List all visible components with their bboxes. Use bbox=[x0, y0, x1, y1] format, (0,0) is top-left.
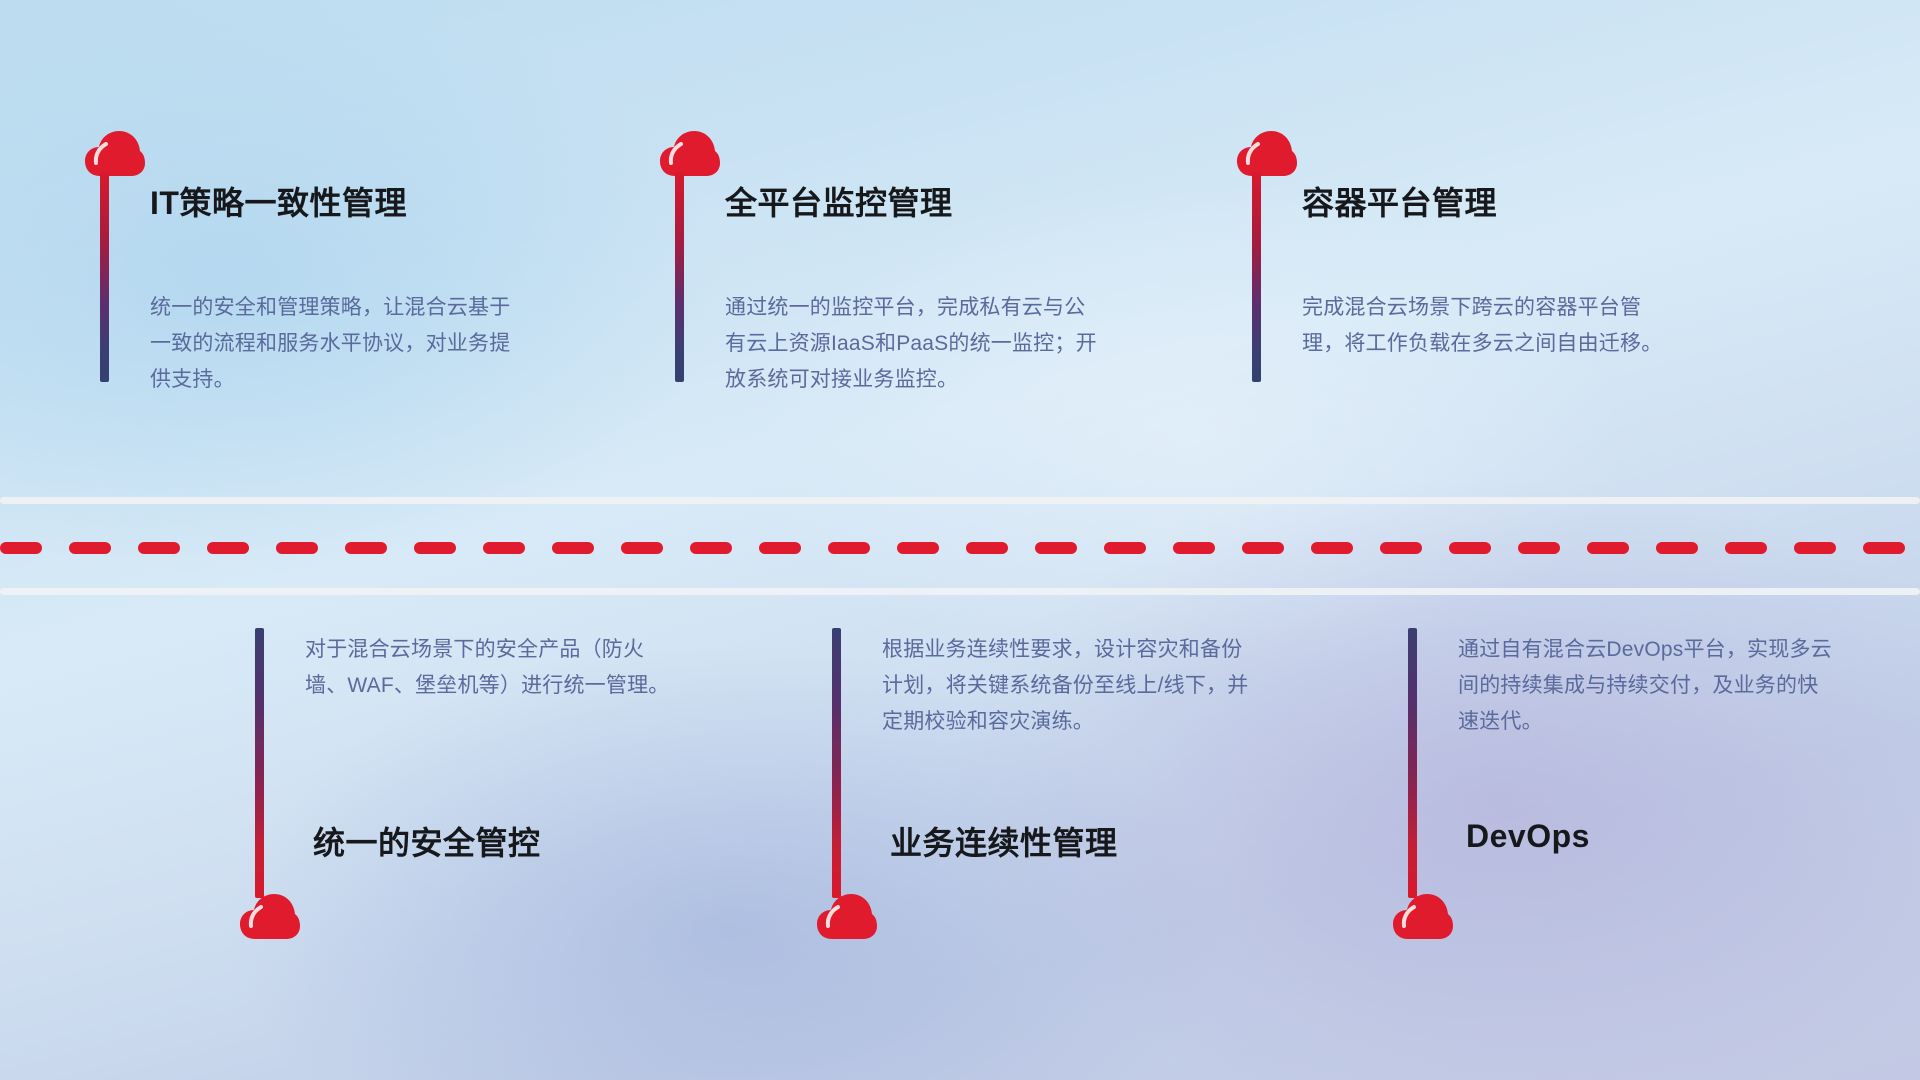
divider-dash bbox=[1311, 542, 1353, 554]
top-body-2: 通过统一的监控平台，完成私有云与公有云上资源IaaS和PaaS的统一监控；开放系… bbox=[725, 290, 1105, 398]
divider-dash bbox=[897, 542, 939, 554]
cloud-icon bbox=[239, 893, 301, 941]
cloud-icon bbox=[84, 130, 146, 178]
divider-dash bbox=[1035, 542, 1077, 554]
connector-stem bbox=[100, 172, 109, 382]
divider-dash bbox=[138, 542, 180, 554]
divider-dash bbox=[1794, 542, 1836, 554]
divider-dash bbox=[690, 542, 732, 554]
bottom-heading-3: DevOps bbox=[1466, 818, 1590, 855]
bottom-body-2: 根据业务连续性要求，设计容灾和备份计划，将关键系统备份至线上/线下，并定期校验和… bbox=[882, 632, 1262, 740]
divider-dash bbox=[276, 542, 318, 554]
divider-dash bbox=[345, 542, 387, 554]
connector-stem bbox=[675, 172, 684, 382]
top-body-3: 完成混合云场景下跨云的容器平台管理，将工作负载在多云之间自由迁移。 bbox=[1302, 290, 1682, 362]
divider-dashed-line bbox=[0, 542, 1920, 554]
top-heading-3: 容器平台管理 bbox=[1302, 178, 1497, 224]
infographic-canvas: IT策略一致性管理 统一的安全和管理策略，让混合云基于一致的流程和服务水平协议，… bbox=[0, 0, 1920, 1080]
divider-dash bbox=[621, 542, 663, 554]
divider-dash bbox=[1242, 542, 1284, 554]
divider-dash bbox=[483, 542, 525, 554]
divider-dash bbox=[1518, 542, 1560, 554]
top-heading-2: 全平台监控管理 bbox=[725, 178, 953, 224]
divider-dash bbox=[207, 542, 249, 554]
connector-stem bbox=[1252, 172, 1261, 382]
divider-dash bbox=[1656, 542, 1698, 554]
bottom-heading-2: 业务连续性管理 bbox=[890, 818, 1118, 864]
bottom-body-1: 对于混合云场景下的安全产品（防火墙、WAF、堡垒机等）进行统一管理。 bbox=[305, 632, 685, 704]
connector-stem bbox=[1408, 628, 1417, 898]
cloud-icon bbox=[1392, 893, 1454, 941]
top-body-1: 统一的安全和管理策略，让混合云基于一致的流程和服务水平协议，对业务提供支持。 bbox=[150, 290, 530, 398]
connector-stem bbox=[255, 628, 264, 898]
divider-dash bbox=[966, 542, 1008, 554]
connector-stem bbox=[832, 628, 841, 898]
bottom-heading-1: 统一的安全管控 bbox=[313, 818, 541, 864]
divider-dash bbox=[69, 542, 111, 554]
divider-dash bbox=[1104, 542, 1146, 554]
cloud-icon bbox=[1236, 130, 1298, 178]
divider-dash bbox=[1173, 542, 1215, 554]
divider-dash bbox=[552, 542, 594, 554]
divider-dash bbox=[1587, 542, 1629, 554]
divider-dash bbox=[1449, 542, 1491, 554]
divider-rule-top bbox=[0, 497, 1920, 504]
divider-rule-bottom bbox=[0, 588, 1920, 595]
divider-dash bbox=[414, 542, 456, 554]
divider-dash bbox=[828, 542, 870, 554]
cloud-icon bbox=[816, 893, 878, 941]
divider-dash bbox=[1380, 542, 1422, 554]
bottom-body-3: 通过自有混合云DevOps平台，实现多云间的持续集成与持续交付，及业务的快速迭代… bbox=[1458, 632, 1838, 740]
divider-dash bbox=[1725, 542, 1767, 554]
cloud-icon bbox=[659, 130, 721, 178]
divider-dash bbox=[759, 542, 801, 554]
divider-dash bbox=[0, 542, 42, 554]
divider-dash bbox=[1863, 542, 1905, 554]
top-heading-1: IT策略一致性管理 bbox=[150, 178, 407, 224]
